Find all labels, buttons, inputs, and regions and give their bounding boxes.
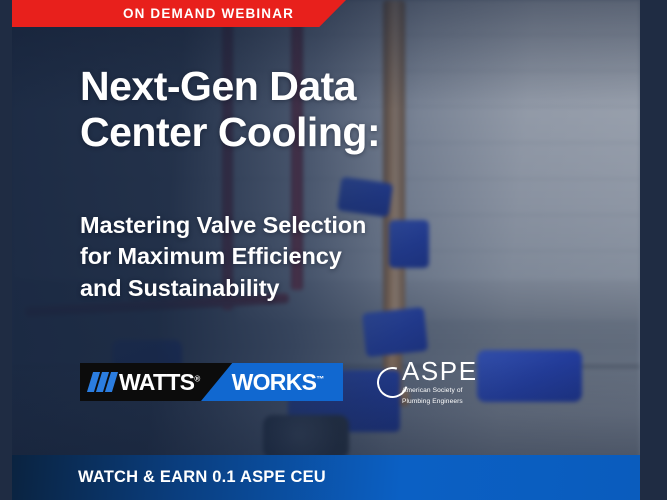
- works-trademark-mark: ™: [316, 374, 323, 383]
- works-wordmark: WORKS™: [232, 369, 324, 396]
- watts-wordmark-text: WATTS: [119, 369, 194, 395]
- page-subtitle-line-1: Mastering Valve Selection: [80, 210, 500, 241]
- watts-wordmark: WATTS®: [119, 369, 200, 396]
- left-edge-rail: [0, 0, 12, 500]
- watts-registered-mark: ®: [194, 374, 199, 383]
- on-demand-ribbon: ON DEMAND WEBINAR: [12, 0, 346, 27]
- on-demand-ribbon-label: ON DEMAND WEBINAR: [123, 6, 294, 21]
- webinar-promo-card: ON DEMAND WEBINAR Next-Gen Data Center C…: [0, 0, 667, 500]
- aspe-tagline-line-2: Plumbing Engineers: [402, 398, 478, 406]
- logo-row: WATTS® WORKS™ ASPE American Society of P…: [80, 358, 478, 406]
- watch-earn-cta-bar[interactable]: WATCH & EARN 0.1 ASPE CEU: [12, 455, 640, 500]
- aspe-acronym: ASPE: [402, 358, 478, 384]
- page-subtitle-line-3: and Sustainability: [80, 273, 500, 304]
- page-title-line-2: Center Cooling:: [80, 110, 510, 156]
- right-edge-rail: [640, 0, 667, 500]
- content-layer: Next-Gen Data Center Cooling: Mastering …: [12, 0, 640, 500]
- page-subtitle-line-2: for Maximum Efficiency: [80, 241, 500, 272]
- aspe-tagline-line-1: American Society of: [402, 387, 478, 395]
- page-title-line-1: Next-Gen Data: [80, 64, 510, 110]
- aspe-logo: ASPE American Society of Plumbing Engine…: [377, 358, 478, 406]
- watts-chevron-icon: [90, 372, 115, 392]
- works-wordmark-text: WORKS: [232, 369, 317, 395]
- page-title: Next-Gen Data Center Cooling:: [80, 64, 510, 156]
- aspe-text-block: ASPE American Society of Plumbing Engine…: [402, 358, 478, 406]
- watts-works-logo: WATTS® WORKS™: [80, 363, 343, 401]
- watch-earn-cta-label: WATCH & EARN 0.1 ASPE CEU: [78, 468, 326, 487]
- page-subtitle: Mastering Valve Selection for Maximum Ef…: [80, 210, 500, 304]
